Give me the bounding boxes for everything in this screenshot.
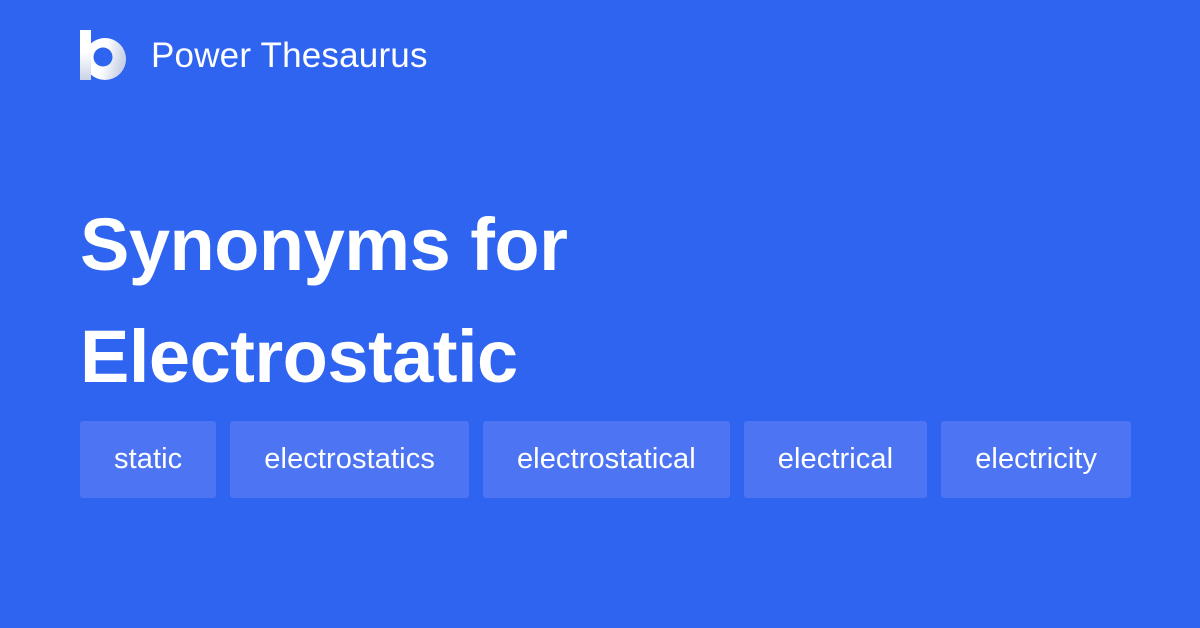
brand-header[interactable]: Power Thesaurus xyxy=(80,26,428,84)
brand-name: Power Thesaurus xyxy=(151,38,428,73)
synonym-tag[interactable]: electrostatical xyxy=(483,421,730,498)
synonym-tag[interactable]: electrostatics xyxy=(230,421,469,498)
synonym-tag[interactable]: electrical xyxy=(744,421,927,498)
synonym-tag[interactable]: static xyxy=(80,421,216,498)
page-title: Synonyms for Electrostatic xyxy=(80,189,1120,413)
page-title-line-2: Electrostatic xyxy=(80,301,1120,413)
social-share-card: Power Thesaurus Synonyms for Electrostat… xyxy=(0,0,1200,628)
power-thesaurus-b-logo-icon xyxy=(80,30,126,80)
page-title-line-1: Synonyms for xyxy=(80,189,1120,301)
synonym-tag-list: static electrostatics electrostatical el… xyxy=(80,421,1140,498)
synonym-tag[interactable]: electricity xyxy=(941,421,1131,498)
